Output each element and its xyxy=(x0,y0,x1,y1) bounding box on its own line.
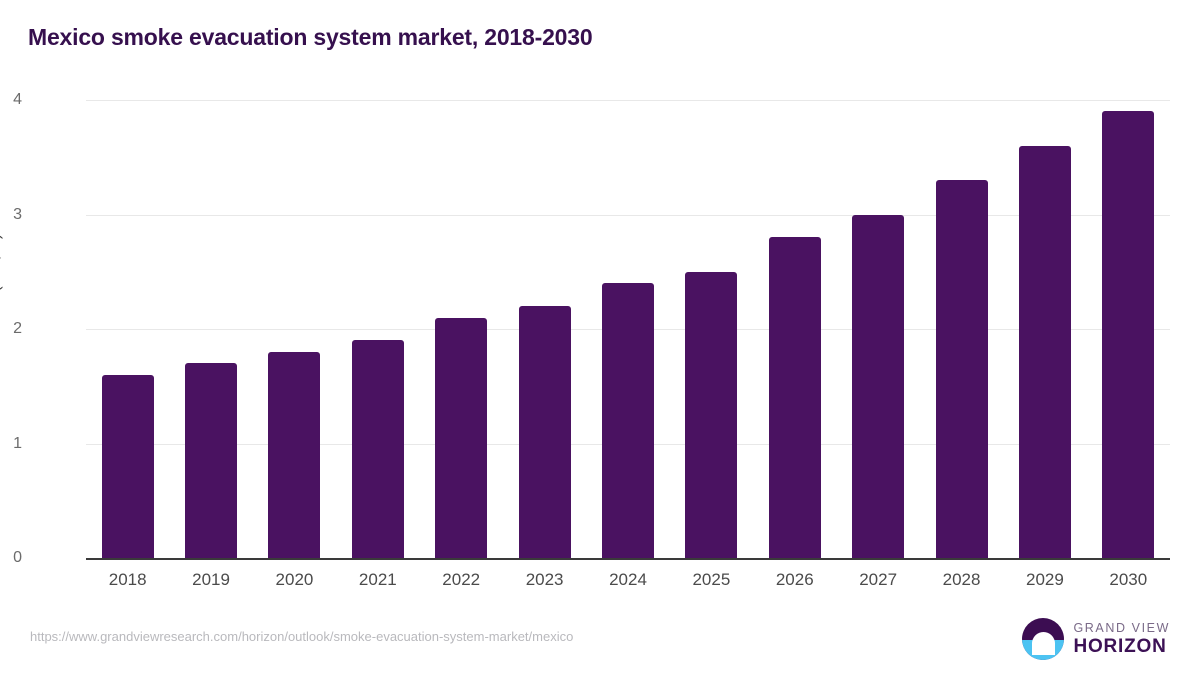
logo-line-horizon: HORIZON xyxy=(1073,637,1170,656)
logo-line-grand-view: GRAND VIEW xyxy=(1073,622,1170,635)
y-axis-tick-label: 1 xyxy=(0,435,22,453)
x-axis-tick-label: 2025 xyxy=(666,570,756,590)
bar[interactable] xyxy=(852,215,904,559)
x-axis-tick-label: 2019 xyxy=(166,570,256,590)
y-axis-tick-label: 0 xyxy=(0,549,22,567)
y-axis-tick-label: 2 xyxy=(0,320,22,338)
x-axis-tick-label: 2021 xyxy=(333,570,423,590)
x-axis-tick-label: 2023 xyxy=(500,570,590,590)
bar[interactable] xyxy=(936,180,988,558)
page-title: Mexico smoke evacuation system market, 2… xyxy=(28,24,592,51)
bar[interactable] xyxy=(685,272,737,558)
plot-area xyxy=(86,100,1170,558)
x-axis-tick-label: 2030 xyxy=(1083,570,1173,590)
x-axis-tick-label: 2029 xyxy=(1000,570,1090,590)
gridline xyxy=(86,100,1170,101)
bar[interactable] xyxy=(1102,111,1154,558)
x-axis-tick-label: 2027 xyxy=(833,570,923,590)
bar[interactable] xyxy=(185,363,237,558)
x-axis-tick-label: 2026 xyxy=(750,570,840,590)
sun-over-water-circle-icon xyxy=(1022,618,1064,660)
x-axis-tick-label: 2028 xyxy=(917,570,1007,590)
bar[interactable] xyxy=(769,237,821,558)
bar[interactable] xyxy=(102,375,154,558)
bar[interactable] xyxy=(268,352,320,558)
x-axis-tick-label: 2020 xyxy=(249,570,339,590)
x-axis-tick-label: 2022 xyxy=(416,570,506,590)
chart-canvas: Mexico smoke evacuation system market, 2… xyxy=(0,0,1200,675)
x-axis-line xyxy=(86,558,1170,560)
y-axis-title: Market Size (US$M) xyxy=(0,80,4,540)
bar[interactable] xyxy=(602,283,654,558)
bar[interactable] xyxy=(1019,146,1071,558)
source-url[interactable]: https://www.grandviewresearch.com/horizo… xyxy=(30,629,573,644)
gridline xyxy=(86,215,1170,216)
logo-ray-1 xyxy=(1035,644,1052,647)
logo-text: GRAND VIEW HORIZON xyxy=(1073,622,1170,657)
y-axis-tick-label: 4 xyxy=(0,91,22,109)
brand-logo: GRAND VIEW HORIZON xyxy=(1022,618,1170,660)
y-axis-tick-label: 3 xyxy=(0,206,22,224)
x-axis-tick-label: 2018 xyxy=(83,570,173,590)
bar[interactable] xyxy=(435,318,487,558)
bar[interactable] xyxy=(519,306,571,558)
x-axis-tick-label: 2024 xyxy=(583,570,673,590)
bar[interactable] xyxy=(352,340,404,558)
logo-ray-2 xyxy=(1038,649,1049,652)
